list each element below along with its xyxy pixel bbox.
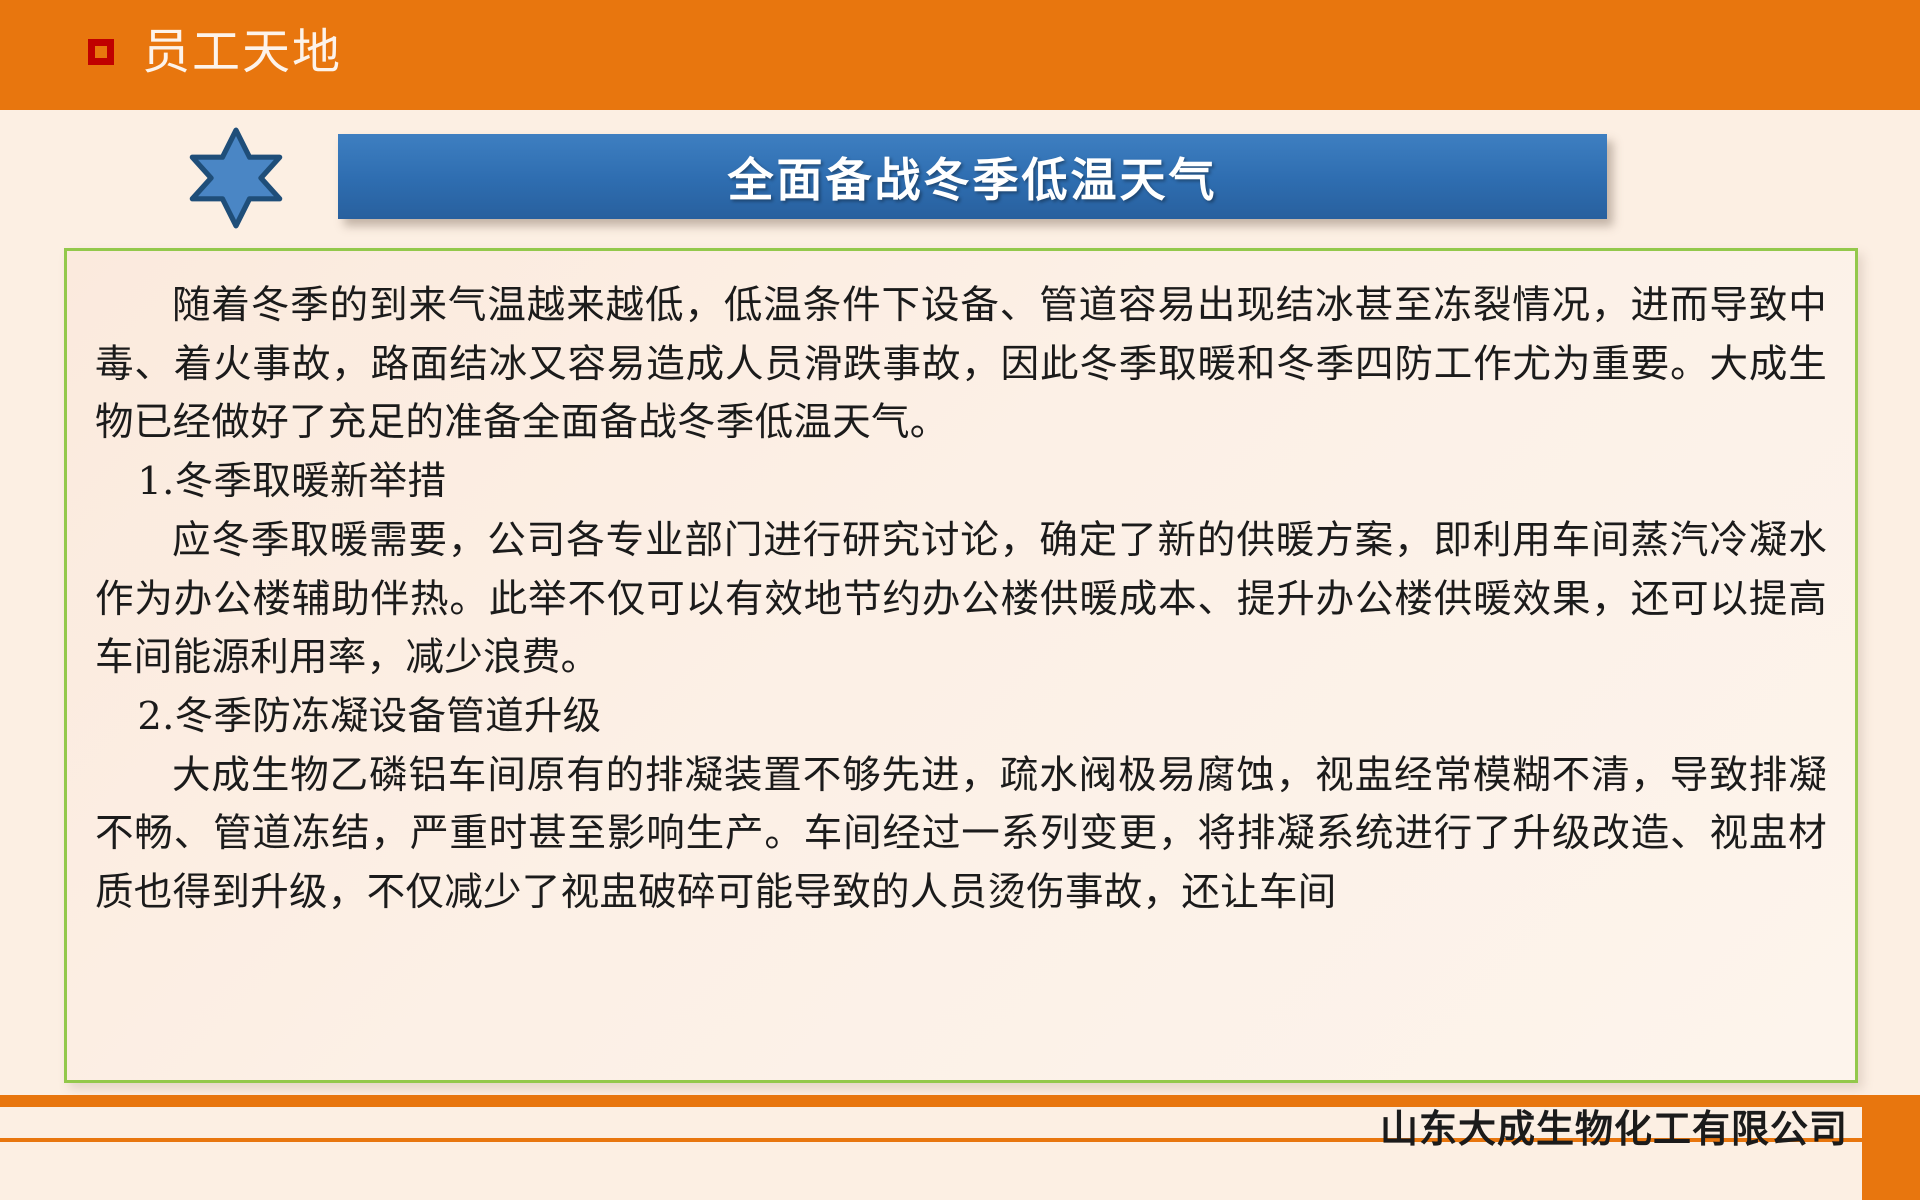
slide: 员工天地 全面备战冬季低温天气 随着冬季的到来气温越来越低，低温条件下设备、管道…: [0, 0, 1920, 1200]
paragraph-heading-2: 2.冬季防冻凝设备管道升级: [95, 688, 1827, 747]
six-pointed-star-icon: [182, 126, 290, 230]
content-box: 随着冬季的到来气温越来越低，低温条件下设备、管道容易出现结冰甚至冻裂情况，进而导…: [64, 248, 1858, 1083]
article-body: 随着冬季的到来气温越来越低，低温条件下设备、管道容易出现结冰甚至冻裂情况，进而导…: [95, 277, 1827, 923]
slide-title: 全面备战冬季低温天气: [728, 144, 1218, 210]
paragraph-section-2: 大成生物乙磷铝车间原有的排凝装置不够先进，疏水阀极易腐蚀，视盅经常模糊不清，导致…: [95, 747, 1827, 923]
paragraph-heading-1: 1.冬季取暖新举措: [95, 453, 1827, 512]
slide-title-banner: 全面备战冬季低温天气: [338, 134, 1607, 219]
paragraph-section-1: 应冬季取暖需要，公司各专业部门进行研究讨论，确定了新的供暖方案，即利用车间蒸汽冷…: [95, 512, 1827, 688]
header-title-group: 员工天地: [88, 28, 342, 76]
section-label: 员工天地: [142, 28, 342, 76]
header-bar: 员工天地: [0, 0, 1920, 110]
company-name: 山东大成生物化工有限公司: [1380, 1098, 1848, 1153]
footer-accent-block: [1862, 1095, 1920, 1200]
paragraph-intro: 随着冬季的到来气温越来越低，低温条件下设备、管道容易出现结冰甚至冻裂情况，进而导…: [95, 277, 1827, 453]
square-bullet-icon: [88, 39, 114, 65]
